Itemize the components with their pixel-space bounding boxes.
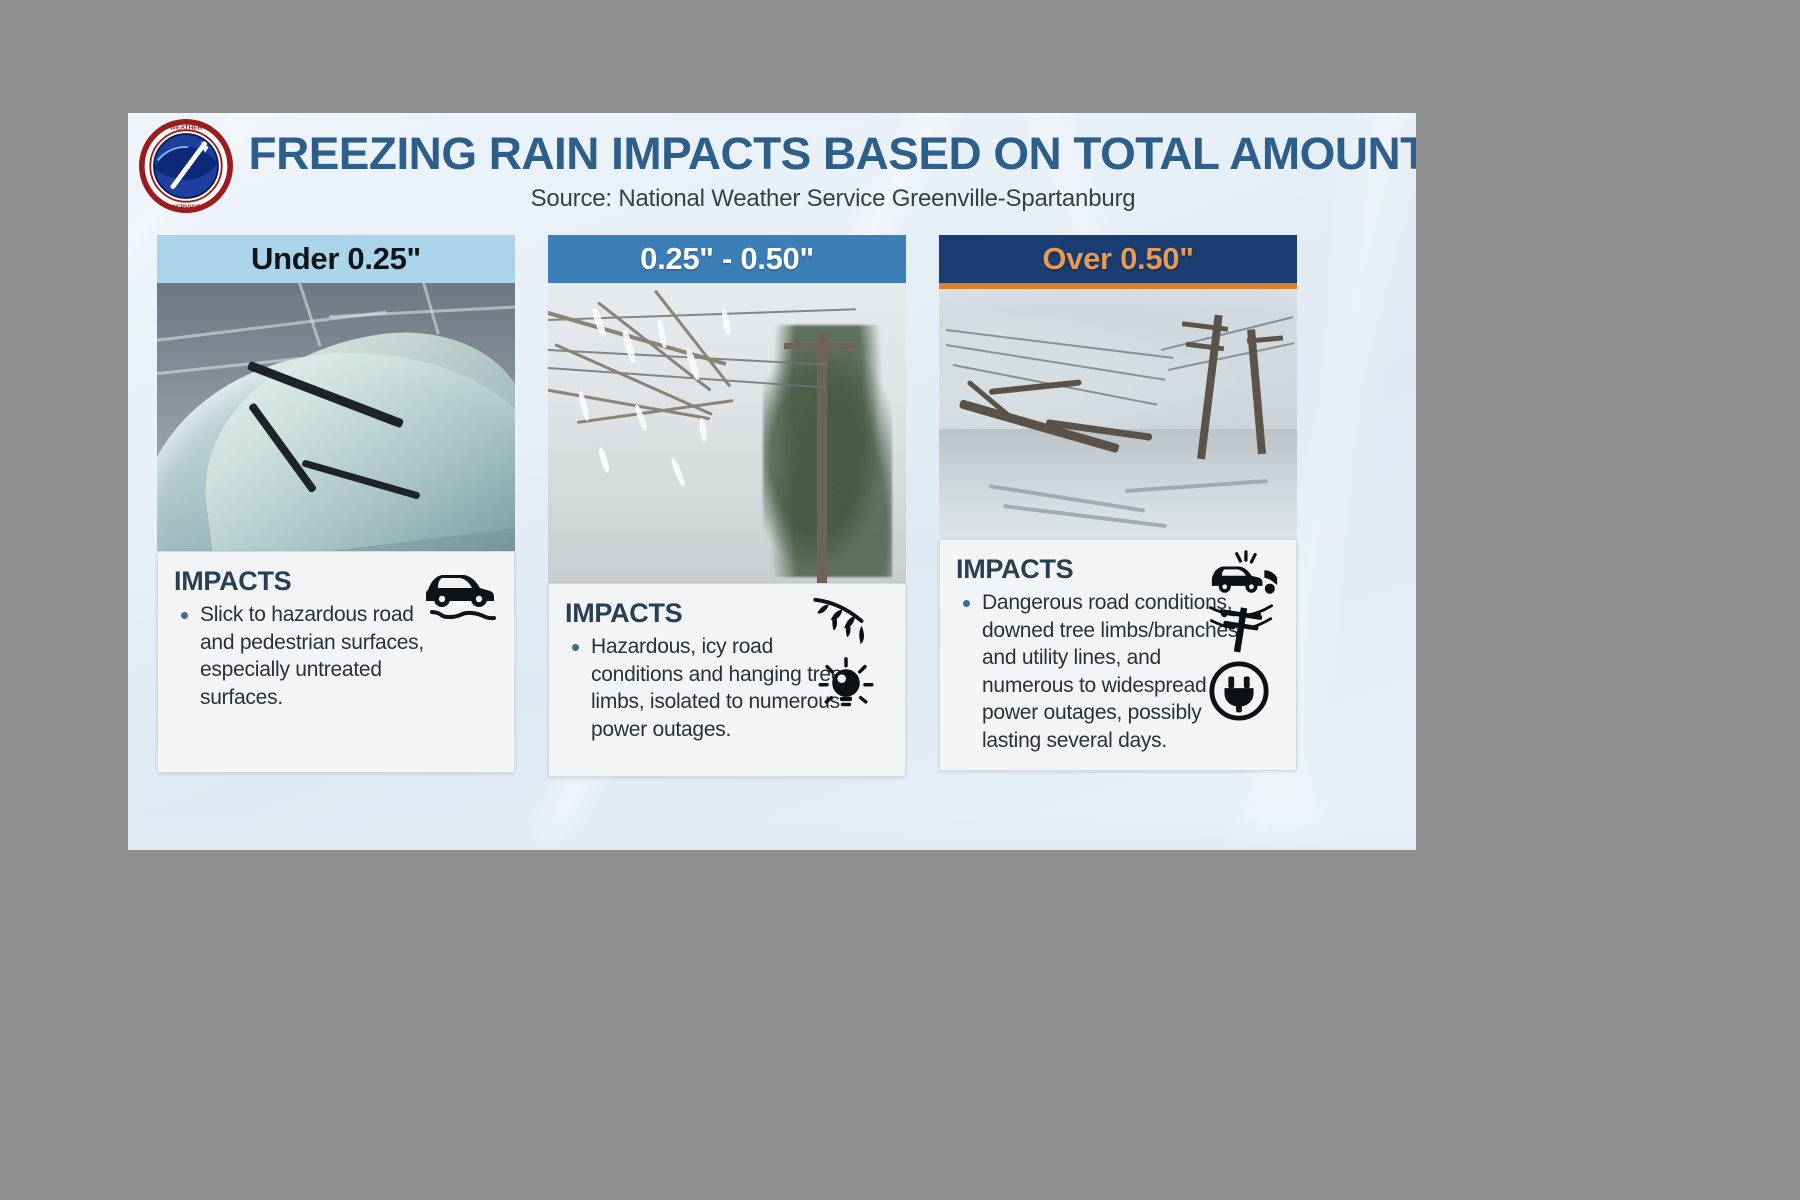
freezing-rain-impacts-infographic: WEATHER SERVICE FREEZING RAIN IMPACTS BA…	[128, 113, 1416, 850]
column-header-band: 0.25" - 0.50"	[548, 235, 906, 283]
power-plug-outage-icon	[1208, 660, 1286, 722]
column-header-band: Under 0.25"	[157, 235, 515, 283]
broken-utility-pole-icon	[1208, 602, 1286, 654]
ice-covered-branch-icon	[811, 594, 895, 646]
impact-columns: Under 0.25" IMPACT	[128, 235, 1416, 835]
impact-column-over-half-inch: Over 0.50"	[939, 235, 1297, 835]
impact-icon-group	[1208, 550, 1286, 728]
impact-column-under-quarter-inch: Under 0.25" IMPACT	[157, 235, 515, 835]
column-header-band: Over 0.50"	[939, 235, 1297, 283]
impact-icon-group	[811, 594, 895, 720]
impact-icon-group	[420, 562, 504, 630]
infographic-header: WEATHER SERVICE FREEZING RAIN IMPACTS BA…	[128, 113, 1416, 223]
svg-text:WEATHER: WEATHER	[170, 124, 203, 131]
source-attribution: Source: National Weather Service Greenvi…	[260, 185, 1406, 213]
nws-seal-icon: WEATHER SERVICE	[139, 119, 233, 213]
photo-downed-tree-on-road	[939, 289, 1297, 539]
svg-text:SERVICE: SERVICE	[172, 204, 201, 211]
impacts-card: IMPACTS Dangerous road conditions, downe…	[939, 539, 1297, 771]
bottom-gradient	[128, 814, 1416, 850]
photo-iced-branches	[548, 283, 906, 583]
list-item: Slick to hazardous road and pedestrian s…	[174, 601, 432, 711]
impacts-card: IMPACTS Slick to hazardous road and pede…	[157, 551, 515, 773]
impact-column-quarter-to-half-inch: 0.25" - 0.50"	[548, 235, 906, 835]
screenshot-canvas: WEATHER SERVICE FREEZING RAIN IMPACTS BA…	[0, 0, 1800, 1200]
page-title: FREEZING RAIN IMPACTS BASED ON TOTAL AMO…	[249, 128, 1416, 180]
photo-icy-windshield	[157, 283, 515, 551]
impacts-card: IMPACTS Hazardous, icy road conditions a…	[548, 583, 906, 777]
light-bulb-icon	[811, 652, 895, 714]
car-skidding-icon	[420, 562, 504, 624]
car-crash-icon	[1208, 550, 1286, 596]
